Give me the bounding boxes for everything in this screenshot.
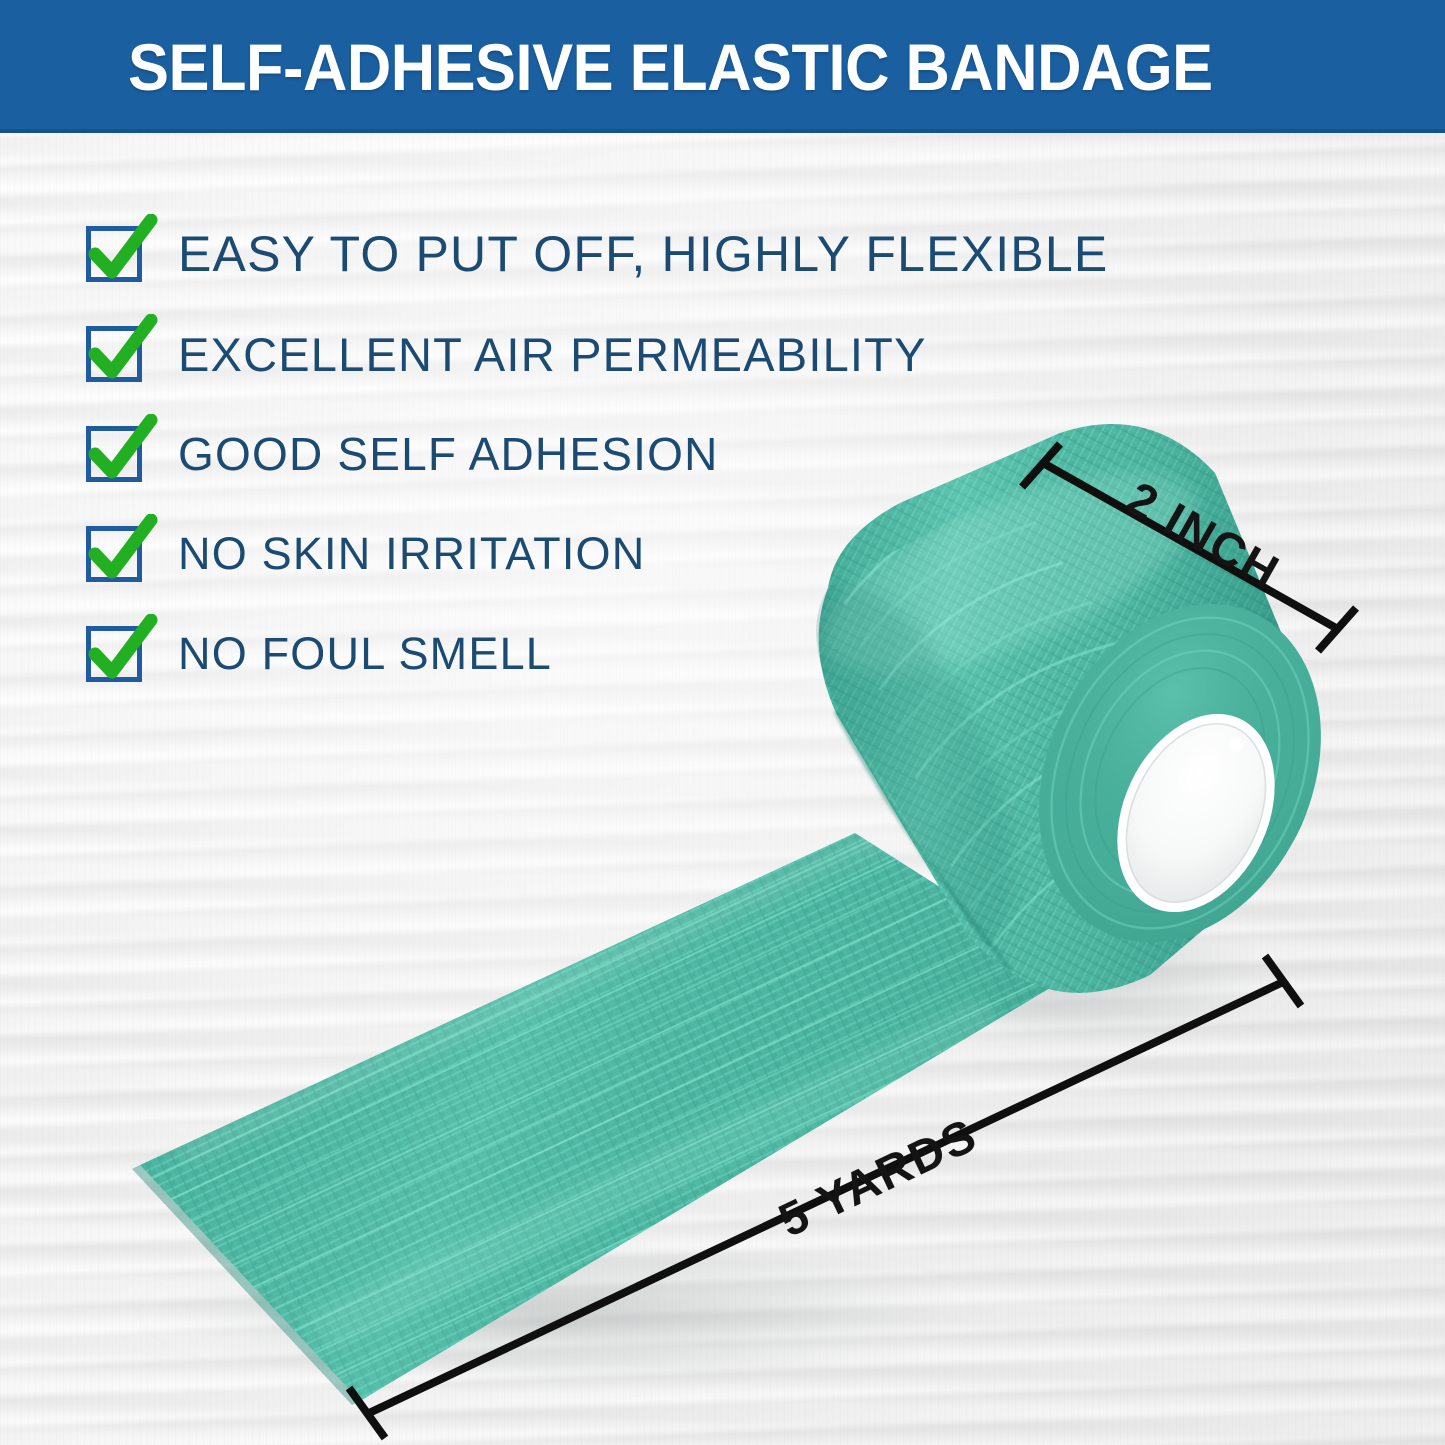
feature-label: GOOD SELF ADHESION: [178, 427, 719, 481]
feature-label: NO SKIN IRRITATION: [178, 528, 645, 580]
check-icon: [85, 214, 161, 290]
check-icon: [85, 414, 161, 490]
checked-checkbox-icon: [86, 426, 142, 482]
feature-item: NO FOUL SMELL: [86, 618, 1108, 690]
checked-checkbox-icon: [86, 226, 142, 282]
check-icon: [85, 614, 161, 690]
header-banner: SELF-ADHESIVE ELASTIC BANDAGE: [0, 0, 1445, 133]
check-icon: [85, 314, 161, 390]
checked-checkbox-icon: [86, 626, 142, 682]
feature-item: EASY TO PUT OFF, HIGHLY FLEXIBLE: [86, 218, 1108, 290]
feature-item: GOOD SELF ADHESION: [86, 418, 1108, 490]
feature-item: EXCELLENT AIR PERMEABILITY: [86, 318, 1108, 390]
checked-checkbox-icon: [86, 326, 142, 382]
feature-list: EASY TO PUT OFF, HIGHLY FLEXIBLE EXCELLE…: [86, 218, 1108, 718]
page-title: SELF-ADHESIVE ELASTIC BANDAGE: [128, 34, 1213, 100]
product-infographic: 2 INCH 5 YARDS SELF-ADHESIVE ELASTIC BAN…: [0, 0, 1445, 1445]
check-icon: [85, 514, 161, 590]
feature-label: NO FOUL SMELL: [178, 628, 552, 680]
checked-checkbox-icon: [86, 526, 142, 582]
feature-item: NO SKIN IRRITATION: [86, 518, 1108, 590]
feature-label: EASY TO PUT OFF, HIGHLY FLEXIBLE: [178, 225, 1108, 283]
feature-label: EXCELLENT AIR PERMEABILITY: [178, 327, 927, 382]
